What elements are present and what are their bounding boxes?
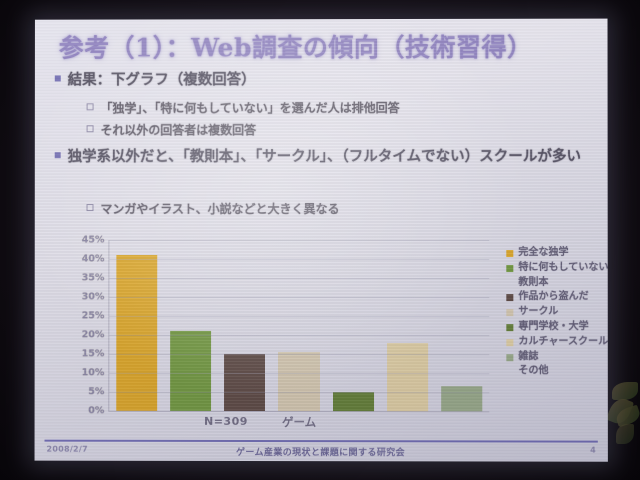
bullet-text: 「独学」、「特に何もしていない」を選んだ人は排他回答 [101,101,400,115]
footer-page-number: 4 [590,446,596,455]
bullet-text: 結果：下グラフ（複数回答） [68,72,593,90]
bar-series [109,240,489,411]
legend-label: 教則本 [518,277,548,289]
y-tick-40%: 40% [82,253,105,264]
bar-5 [387,343,428,412]
bullet-hollow-square-icon [87,103,94,110]
gridline [109,240,489,241]
x-axis-category-label: ゲーム [282,414,316,430]
bar-slot [272,240,326,411]
legend-swatch-icon [506,324,513,331]
bullet-hollow-square-icon [87,204,94,211]
bullet-hollow-square-icon [87,125,94,132]
bar-4 [333,392,374,411]
bar-slot [163,240,217,411]
bullet-square-icon [55,152,61,158]
bar-slot [380,240,434,411]
legend-swatch-icon [506,265,513,272]
page-title: 参考（1）：Web調査の傾向（技術習得） [59,28,599,65]
legend-item: カルチャースクール [506,336,608,348]
bar-6 [441,387,482,412]
legend-label: 完全な独学 [518,247,568,259]
legend-item: 専門学校・大学 [506,321,608,333]
slide-surface: 参考（1）：Web調査の傾向（技術習得） 結果：下グラフ（複数回答） 「独学」、… [35,19,608,462]
bar-1 [170,331,211,411]
legend-item: 完全な独学 [506,247,608,259]
bullet-level2-exclusive: 「独学」、「特に何もしていない」を選んだ人は排他回答 [87,99,400,116]
legend-label: その他 [518,366,548,378]
gridline [109,278,489,279]
bullet-text: それ以外の回答者は複数回答 [101,123,257,137]
bullet-square-icon [55,75,61,81]
legend-item: 教則本 [506,277,608,289]
bar-slot [435,240,489,411]
legend-label: 作品から盗んだ [518,291,588,303]
legend-item: サークル [506,306,608,318]
gridline [109,297,489,298]
projected-slide-photo: 参考（1）：Web調査の傾向（技術習得） 結果：下グラフ（複数回答） 「独学」、… [0,0,640,480]
bullet-level2-manga: マンガやイラスト、小説などと大きく異なる [87,200,340,217]
legend-swatch-icon [506,339,513,346]
bullet-level1-nonselftaught: 独学系以外だと、「教則本」、「サークル」、（フルタイムでない）スクールが多い [55,149,593,167]
legend-label: 特に何もしていない [518,262,608,274]
footer-divider [45,440,598,443]
legend-swatch-icon [506,250,513,257]
legend-label: カルチャースクール [518,336,608,348]
y-tick-10%: 10% [82,367,105,378]
bar-3 [278,352,319,411]
legend-item: その他 [506,366,608,378]
legend-label: サークル [518,306,558,318]
bullet-level1-result: 結果：下グラフ（複数回答） [55,72,593,90]
legend-swatch-icon [506,294,513,301]
chart-legend: 完全な独学特に何もしていない教則本作品から盗んだサークル専門学校・大学カルチャー… [506,247,608,381]
bullet-text: マンガやイラスト、小説などと大きく異なる [100,202,339,216]
y-tick-0%: 0% [88,405,104,416]
legend-swatch-icon [506,309,513,316]
y-tick-20%: 20% [82,329,105,340]
legend-swatch-icon [506,354,513,361]
y-tick-45%: 45% [82,235,105,246]
bullet-level2-multiple: それ以外の回答者は複数回答 [87,121,257,138]
y-tick-35%: 35% [82,272,105,283]
y-tick-15%: 15% [82,348,105,359]
survey-bar-chart: 0%5%10%15%20%25%30%35%40%45% N=309 ゲーム 完… [64,235,597,436]
legend-swatch-icon [506,280,513,287]
bar-slot [218,240,272,411]
y-tick-25%: 25% [82,310,105,321]
bar-slot [109,240,163,411]
legend-swatch-icon [506,369,513,376]
sample-size-label: N=309 [204,415,248,428]
bar-2 [224,354,265,411]
y-tick-30%: 30% [82,291,105,302]
footer-title: ゲーム産業の現状と課題に関する研究会 [35,445,608,459]
chart-plot-area [108,240,489,412]
bar-slot [326,240,380,411]
bullet-text: 独学系以外だと、「教則本」、「サークル」、（フルタイムでない）スクールが多い [68,149,593,167]
y-axis-tick-labels: 0%5%10%15%20%25%30%35%40%45% [64,235,104,411]
gridline [109,259,489,260]
legend-label: 専門学校・大学 [518,321,588,333]
y-tick-5%: 5% [88,386,104,397]
legend-item: 特に何もしていない [506,262,608,274]
legend-item: 作品から盗んだ [506,291,608,303]
legend-item: 雑誌 [506,351,608,363]
legend-label: 雑誌 [518,351,538,363]
